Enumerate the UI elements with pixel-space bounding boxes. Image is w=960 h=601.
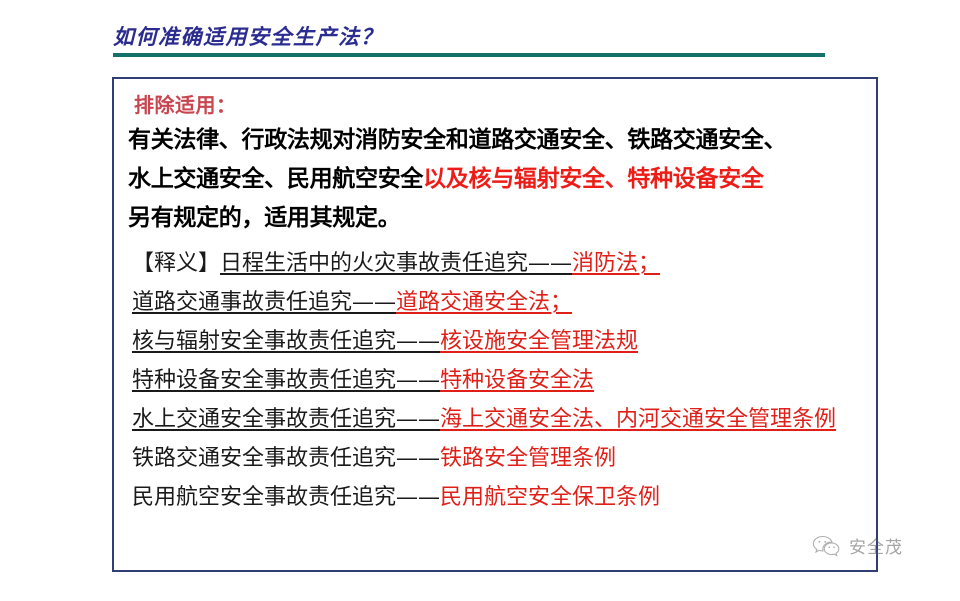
explanation-block: 【释义】日程生活中的火灾事故责任追究——消防法； 道路交通事故责任追究——道路交… [132,244,870,517]
explanation-prefix: 【释义】 [132,251,220,276]
explanation-item: 水上交通安全事故责任追究——海上交通安全法、内河交通安全管理条例 [132,400,870,439]
explanation-red-1: 道路交通安全法； [396,290,572,315]
title-block: 如何准确适用安全生产法？ [113,24,827,57]
explanation-black-3: 特种设备安全事故责任追究—— [132,368,440,393]
explanation-red-5: 铁路安全管理条例 [440,446,616,471]
explanation-black-5: 铁路交通安全事故责任追究—— [132,446,440,471]
explanation-red-4: 海上交通安全法、内河交通安全管理条例 [440,407,836,432]
wechat-icon [812,534,842,558]
statute-line-2-red: 以及核与辐射安全、特种设备安全 [423,166,764,192]
explanation-black-4: 水上交通安全事故责任追究—— [132,407,440,432]
exclusion-heading: 排除适用： [134,91,870,119]
explanation-red-6: 民用航空安全保卫条例 [440,485,660,510]
explanation-black-2: 核与辐射安全事故责任追究—— [132,329,440,354]
watermark-label: 安全茂 [849,533,903,558]
statute-line-2-black: 水上交通安全、民用航空安全 [128,166,423,192]
explanation-item: 民用航空安全事故责任追究——民用航空安全保卫条例 [132,478,870,517]
explanation-red-2: 核设施安全管理法规 [440,329,638,354]
explanation-item: 铁路交通安全事故责任追究——铁路安全管理条例 [132,439,870,478]
statute-line-2: 水上交通安全、民用航空安全以及核与辐射安全、特种设备安全 [128,160,870,199]
page-title: 如何准确适用安全生产法？ [113,24,827,50]
slide-canvas: 如何准确适用安全生产法？ 排除适用： 有关法律、行政法规对消防安全和道路交通安全… [0,0,960,601]
explanation-black-0: 日程生活中的火灾事故责任追究—— [220,251,572,276]
explanation-red-3: 特种设备安全法 [440,368,594,393]
statute-line-3: 另有规定的，适用其规定。 [128,199,870,238]
content-box: 排除适用： 有关法律、行政法规对消防安全和道路交通安全、铁路交通安全、 水上交通… [112,77,878,572]
explanation-red-0: 消防法； [572,251,660,276]
watermark: 安全茂 [812,533,903,558]
explanation-item: 【释义】日程生活中的火灾事故责任追究——消防法； [132,244,870,283]
explanation-black-6: 民用航空安全事故责任追究—— [132,485,440,510]
statute-text-block: 有关法律、行政法规对消防安全和道路交通安全、铁路交通安全、 水上交通安全、民用航… [128,121,870,238]
title-underline-rule [113,53,825,57]
explanation-item: 道路交通事故责任追究——道路交通安全法； [132,283,870,322]
explanation-item: 核与辐射安全事故责任追究——核设施安全管理法规 [132,322,870,361]
explanation-item: 特种设备安全事故责任追究——特种设备安全法 [132,361,870,400]
explanation-black-1: 道路交通事故责任追究—— [132,290,396,315]
statute-line-1: 有关法律、行政法规对消防安全和道路交通安全、铁路交通安全、 [128,121,870,160]
